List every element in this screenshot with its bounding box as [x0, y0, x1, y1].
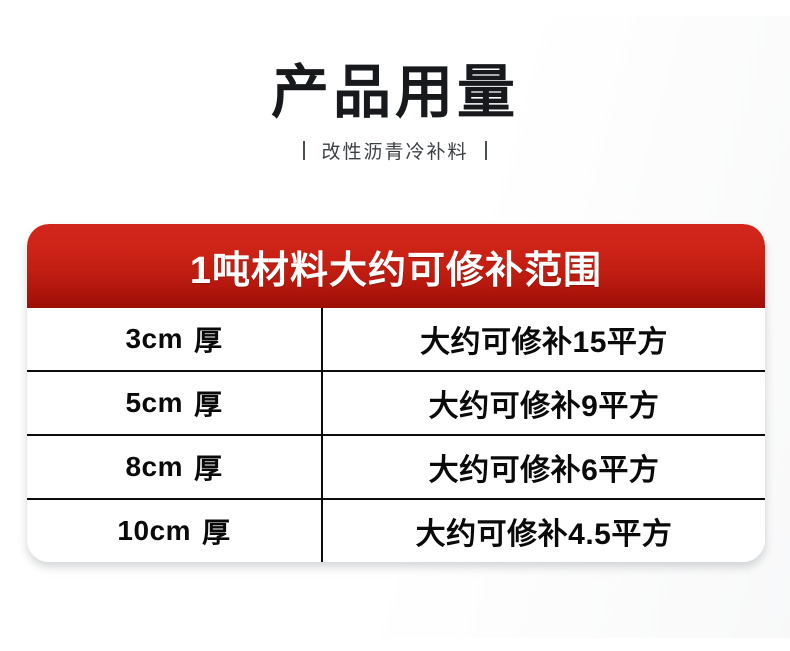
thickness-label: 厚: [194, 319, 223, 359]
coverage-card: 1吨材料大约可修补范围 3cm 厚 大约可修补15平方 5cm 厚: [27, 224, 765, 562]
table-cell-thickness: 3cm 厚: [27, 308, 323, 370]
thickness-label: 厚: [202, 511, 231, 551]
table-cell-thickness: 10cm 厚: [27, 500, 323, 562]
table-row: 8cm 厚 大约可修补6平方: [27, 436, 765, 500]
thickness-label: 厚: [194, 447, 223, 487]
coverage-table: 3cm 厚 大约可修补15平方 5cm 厚 大约可修补9平方: [27, 308, 765, 562]
coverage-value: 大约可修补15平方: [420, 317, 668, 361]
table-cell-coverage: 大约可修补9平方: [323, 372, 765, 434]
thickness-value: 8cm: [125, 451, 183, 483]
coverage-value: 大约可修补6平方: [429, 445, 660, 489]
product-usage-infographic: 产品用量 改性沥青冷补料 1吨材料大约可修补范围 3cm 厚 大约可修补15平方: [0, 0, 790, 651]
table-row: 5cm 厚 大约可修补9平方: [27, 372, 765, 436]
table-cell-coverage: 大约可修补6平方: [323, 436, 765, 498]
coverage-value: 大约可修补4.5平方: [416, 509, 673, 553]
heading-block: 产品用量 改性沥青冷补料: [0, 62, 790, 164]
thickness-value: 5cm: [125, 387, 183, 419]
thickness-label: 厚: [194, 383, 223, 423]
page-title: 产品用量: [0, 62, 790, 125]
page-subtitle: 改性沥青冷补料: [321, 137, 468, 164]
vertical-bar-right-icon: [485, 141, 487, 160]
table-row: 3cm 厚 大约可修补15平方: [27, 308, 765, 372]
card-header-title: 1吨材料大约可修补范围: [190, 239, 602, 294]
thickness-value: 10cm: [117, 515, 191, 547]
coverage-value: 大约可修补9平方: [429, 381, 660, 425]
thickness-value: 3cm: [125, 323, 183, 355]
table-cell-thickness: 5cm 厚: [27, 372, 323, 434]
subtitle-row: 改性沥青冷补料: [0, 137, 790, 164]
table-cell-thickness: 8cm 厚: [27, 436, 323, 498]
table-cell-coverage: 大约可修补15平方: [323, 308, 765, 370]
card-header-banner: 1吨材料大约可修补范围: [27, 224, 765, 308]
vertical-bar-left-icon: [303, 141, 305, 160]
table-cell-coverage: 大约可修补4.5平方: [323, 500, 765, 562]
table-row: 10cm 厚 大约可修补4.5平方: [27, 500, 765, 562]
